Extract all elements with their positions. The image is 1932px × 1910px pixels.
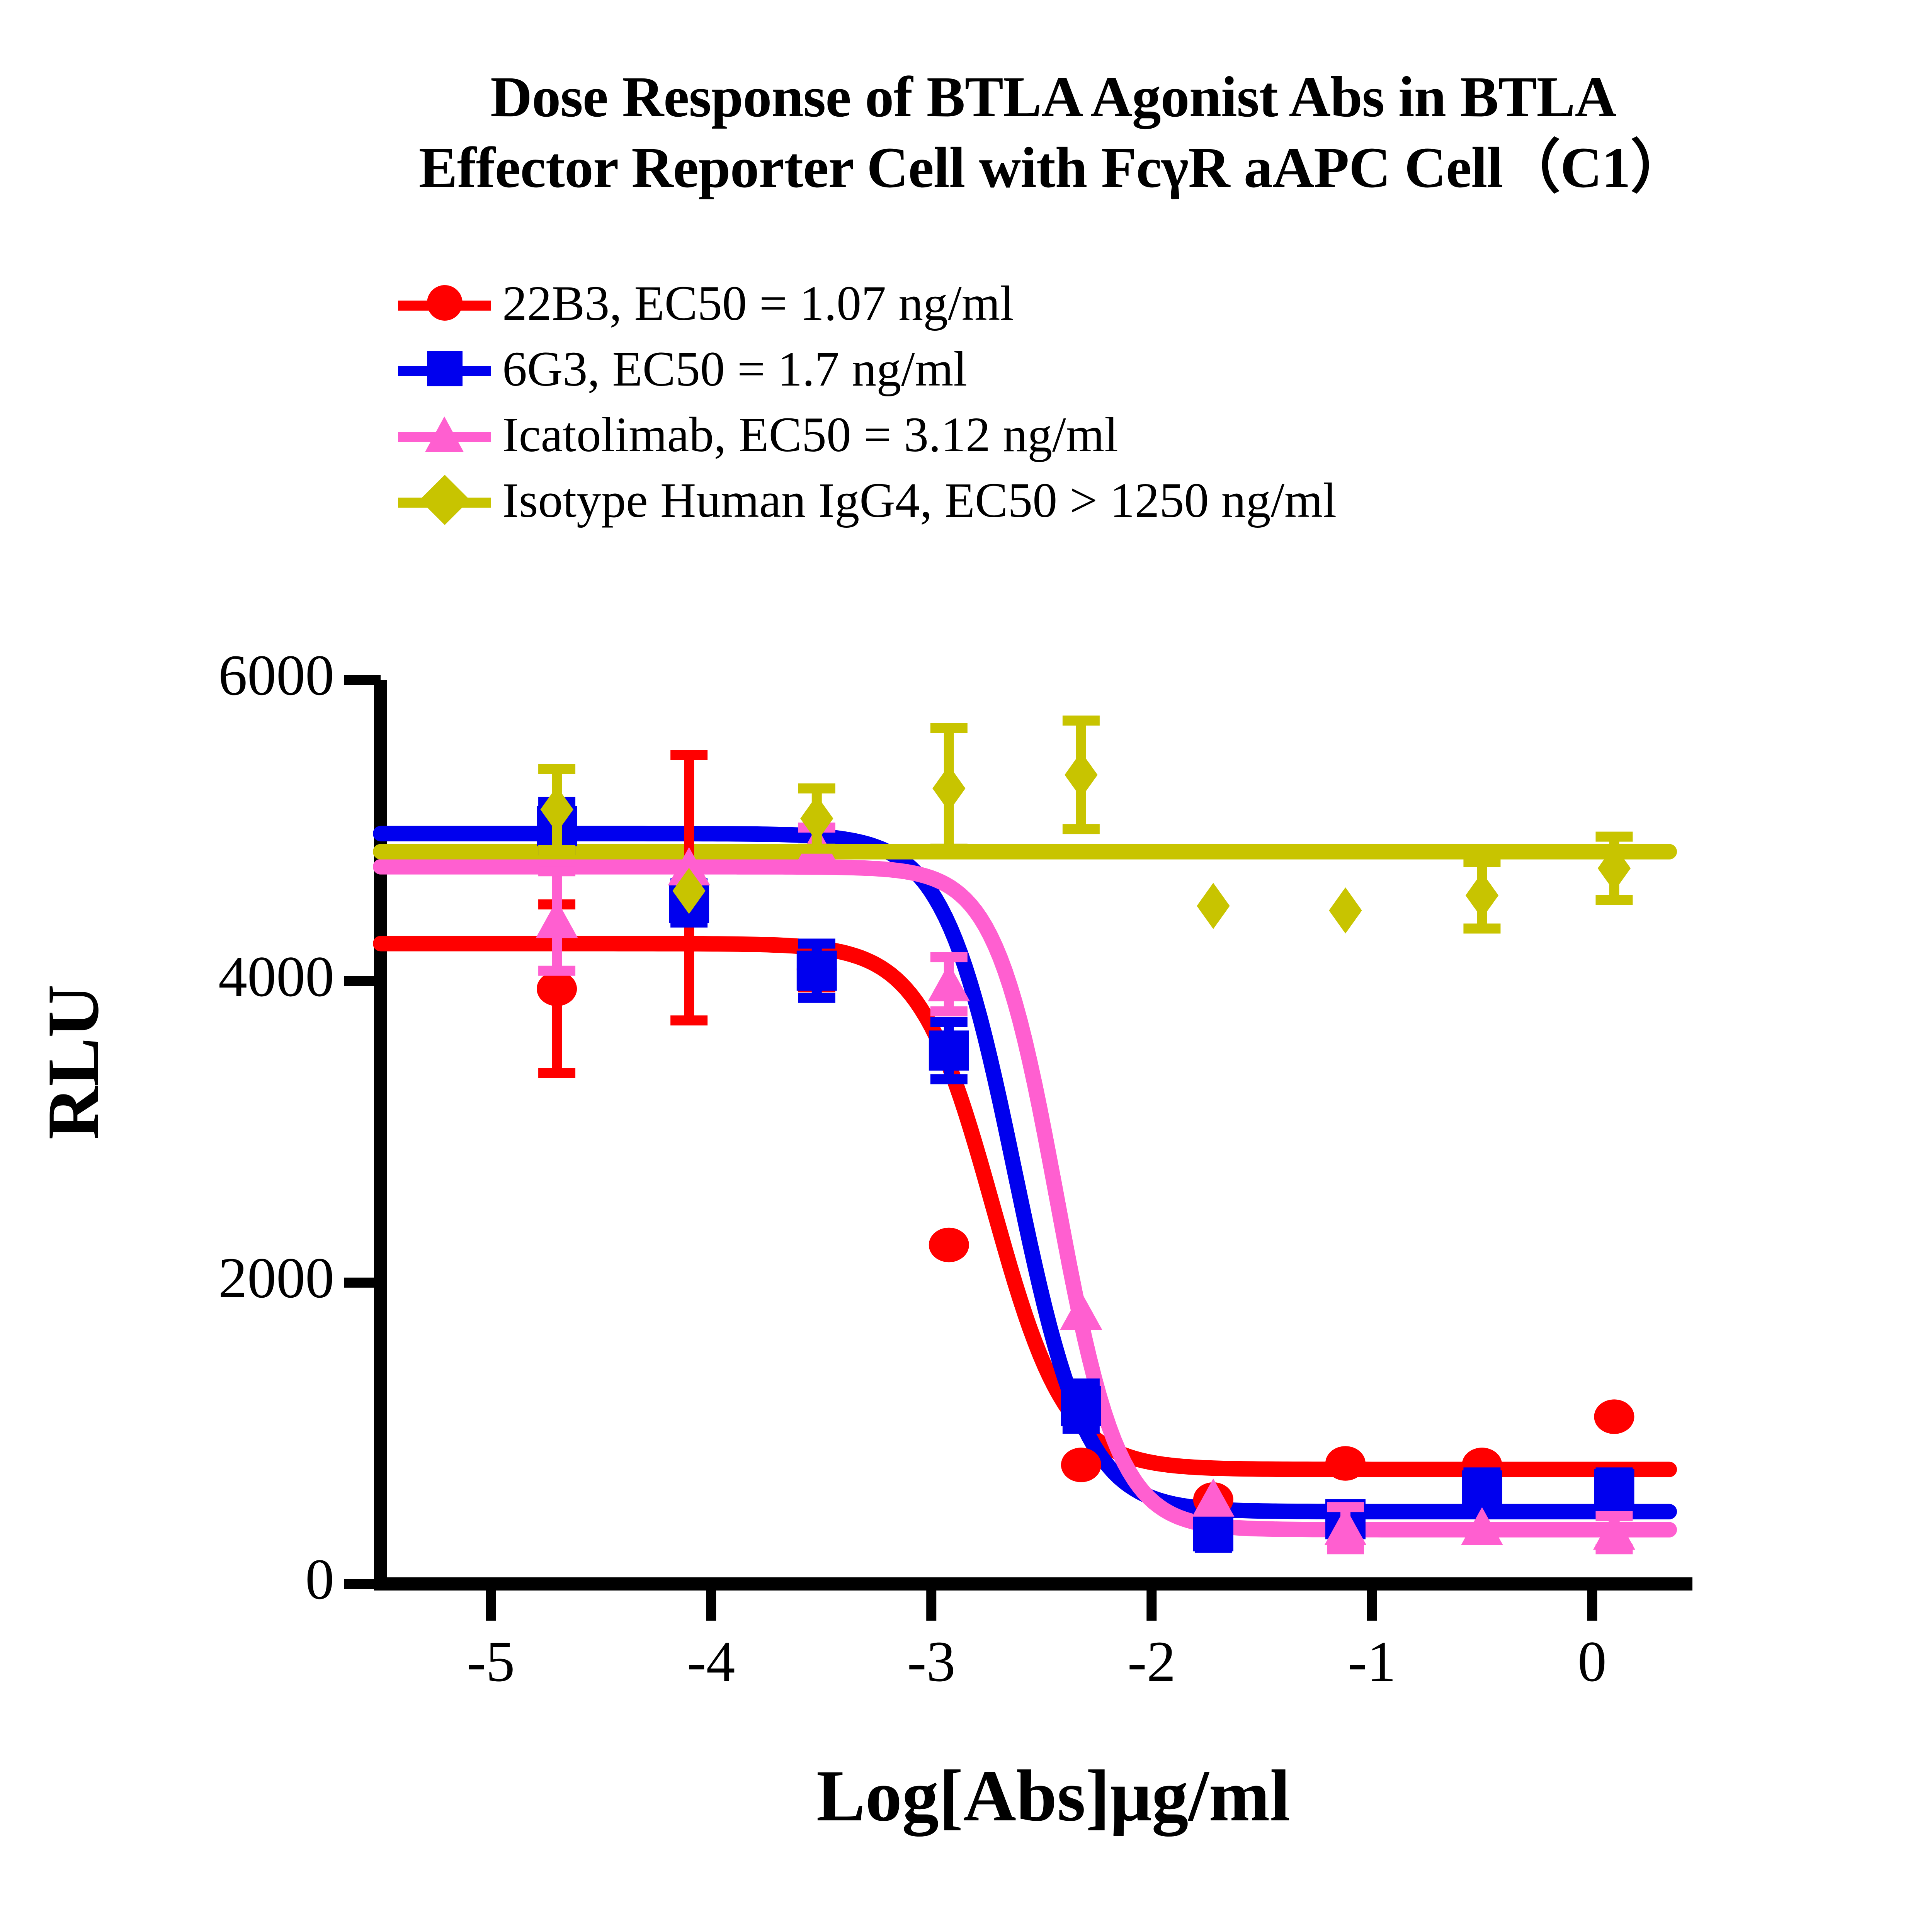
x-axis-label: Log[Abs]μg/ml bbox=[0, 1754, 1932, 1838]
data-point-1-2 bbox=[797, 951, 837, 991]
x-tick-label: -5 bbox=[433, 1628, 549, 1695]
y-tick-label: 2000 bbox=[64, 1245, 334, 1311]
x-tick-label: -3 bbox=[873, 1628, 989, 1695]
y-tick-label: 4000 bbox=[64, 943, 334, 1010]
data-point-2-4 bbox=[1060, 1291, 1102, 1330]
y-tick-label: 0 bbox=[64, 1546, 334, 1613]
data-point-0-8 bbox=[1594, 1399, 1634, 1434]
data-point-3-3 bbox=[932, 765, 965, 812]
data-point-3-4 bbox=[1065, 752, 1097, 798]
x-tick-label: -4 bbox=[653, 1628, 769, 1695]
data-point-0-3 bbox=[929, 1228, 969, 1262]
chart-figure: Dose Response of BTLA Agonist Abs in BTL… bbox=[0, 0, 1932, 1910]
data-point-0-6 bbox=[1325, 1446, 1366, 1480]
data-point-0-4 bbox=[1061, 1448, 1101, 1482]
data-point-1-5 bbox=[1193, 1511, 1233, 1551]
data-point-3-5 bbox=[1197, 883, 1230, 929]
data-point-1-7 bbox=[1462, 1470, 1502, 1511]
x-tick-label: -2 bbox=[1094, 1628, 1209, 1695]
data-point-1-3 bbox=[929, 1030, 969, 1071]
x-tick-label: -1 bbox=[1314, 1628, 1430, 1695]
data-point-0-0 bbox=[537, 972, 577, 1006]
data-point-1-4 bbox=[1061, 1386, 1101, 1426]
x-tick-label: 0 bbox=[1534, 1628, 1650, 1695]
data-point-1-8 bbox=[1594, 1469, 1634, 1509]
y-tick-label: 6000 bbox=[64, 642, 334, 709]
data-point-3-7 bbox=[1466, 872, 1498, 919]
data-point-3-6 bbox=[1329, 887, 1362, 934]
